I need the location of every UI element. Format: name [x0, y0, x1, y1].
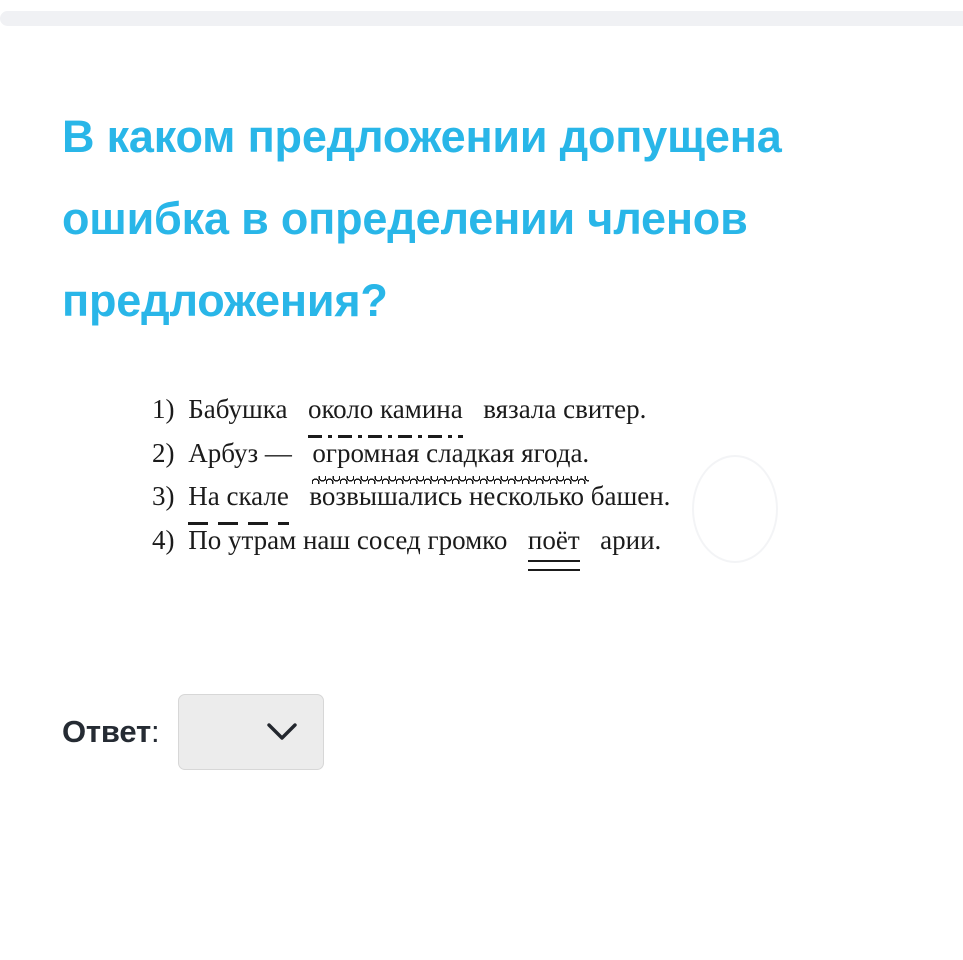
- option-number-4: 4): [152, 525, 175, 555]
- option-3-after: возвышались несколько башен.: [309, 481, 670, 511]
- option-2-marked-attribute: огромная сладкая ягода.: [312, 432, 589, 476]
- question-title-line-2: ошибка в определении членов: [62, 178, 963, 260]
- top-progress-bar: [0, 11, 963, 26]
- option-4-before: По утрам наш сосед громко: [188, 525, 507, 555]
- option-4-marked-predicate: поёт: [528, 519, 580, 563]
- option-2-before: Арбуз —: [188, 438, 292, 468]
- options-list: 1) Бабушка около камина вязала свитер. 2…: [152, 388, 670, 562]
- option-number-1: 1): [152, 394, 175, 424]
- question-title: В каком предложении допущена ошибка в оп…: [62, 96, 963, 342]
- option-number-3: 3): [152, 481, 175, 511]
- answer-row: Ответ:: [62, 694, 324, 770]
- option-row-4: 4) По утрам наш сосед громко поёт арии.: [152, 519, 670, 563]
- option-1-before: Бабушка: [188, 394, 287, 424]
- question-title-line-1: В каком предложении допущена: [62, 96, 963, 178]
- option-row-2: 2) Арбуз — огромная сладкая ягода.: [152, 432, 670, 476]
- option-4-after: арии.: [600, 525, 661, 555]
- scan-watermark: [692, 455, 778, 563]
- option-number-2: 2): [152, 438, 175, 468]
- question-title-line-3: предложения?: [62, 260, 963, 342]
- option-row-1: 1) Бабушка около камина вязала свитер.: [152, 388, 670, 432]
- option-1-after: вязала свитер.: [483, 394, 646, 424]
- answer-label: Ответ:: [62, 714, 159, 750]
- answer-label-text: Ответ: [62, 714, 151, 749]
- chevron-down-icon: [267, 723, 297, 741]
- answer-dropdown[interactable]: [178, 694, 324, 770]
- option-1-marked-adverbial: около камина: [308, 388, 463, 432]
- answer-label-colon: :: [151, 714, 159, 749]
- option-3-marked-object: На скале: [188, 475, 289, 519]
